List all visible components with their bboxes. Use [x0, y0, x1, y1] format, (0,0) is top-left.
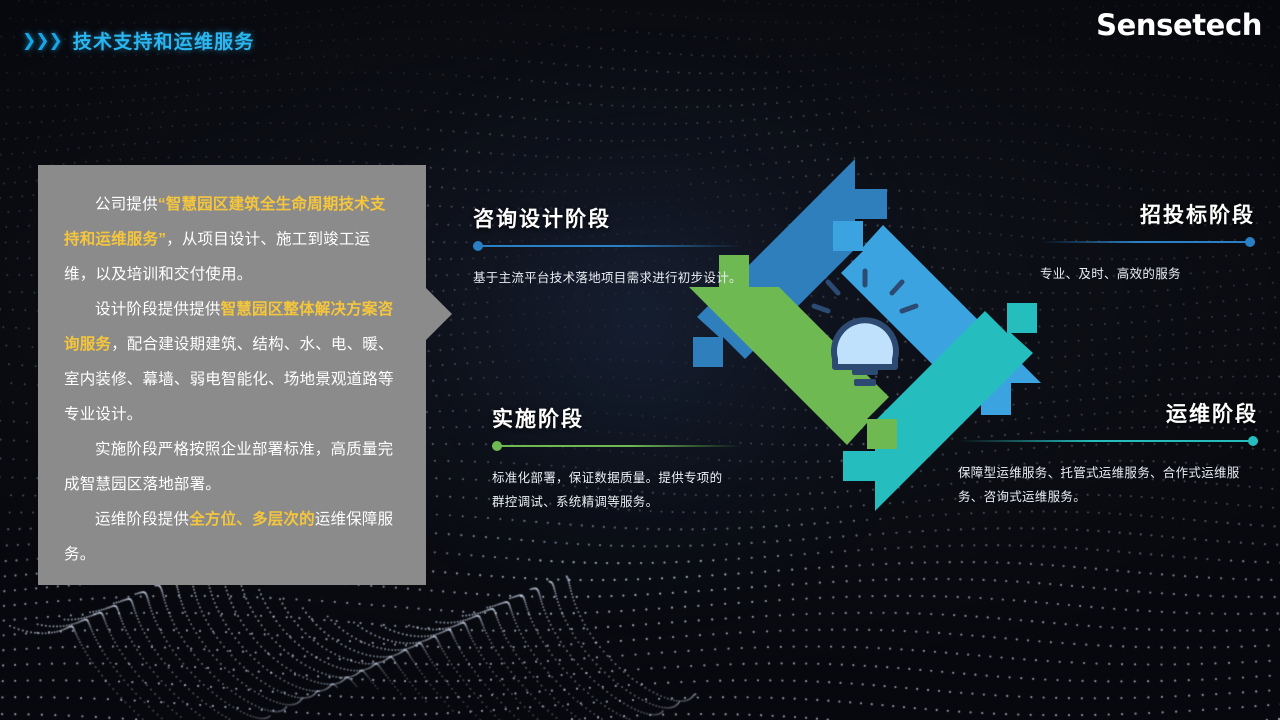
- rule-line: [473, 245, 743, 247]
- page-title-group: ❯❯❯ 技术支持和运维服务: [22, 27, 255, 54]
- panel-pointer-triangle: [426, 288, 452, 340]
- body-text: 设计阶段提供提供: [95, 301, 221, 318]
- rule-dot: [473, 241, 483, 251]
- triple-chevron-right-icon: ❯❯❯: [22, 32, 61, 49]
- lightbulb-glass: [834, 320, 896, 367]
- stage-ops-title: 运维阶段: [958, 398, 1258, 428]
- stage-ops-desc: 保障型运维服务、托管式运维服务、合作式运维服务、咨询式运维服务。: [958, 461, 1250, 509]
- body-text: ，配合建设期建筑、结构、水、电、暖、室内装修、幕墙、弱电智能化、场地景观道路等专…: [64, 336, 394, 423]
- info-paragraph-4: 运维阶段提供全方位、多层次的运维保障服务。: [64, 502, 400, 572]
- stage-bidding-rule: [1040, 236, 1255, 248]
- lightbulb-base-2: [854, 379, 876, 386]
- stage-bidding-title: 招投标阶段: [1040, 199, 1255, 229]
- info-paragraph-2: 设计阶段提供提供智慧园区整体解决方案咨询服务，配合建设期建筑、结构、水、电、暖、…: [64, 292, 400, 432]
- stage-consulting-rule: [473, 240, 743, 252]
- body-text: 实施阶段严格按照企业部署标准，高质量完成智慧园区落地部署。: [64, 441, 393, 493]
- rule-dot: [1248, 436, 1258, 446]
- rule-line: [492, 445, 742, 447]
- stage-consulting-desc: 基于主流平台技术落地项目需求进行初步设计。: [473, 266, 743, 290]
- info-paragraph-1: 公司提供“智慧园区建筑全生命周期技术支持和运维服务”，从项目设计、施工到竣工运维…: [64, 187, 400, 292]
- stage-implement[interactable]: 实施阶段 标准化部署，保证数据质量。提供专项的群控调试、系统精调等服务。: [492, 403, 742, 514]
- brand-logo: Sensetech: [1096, 8, 1262, 42]
- stage-implement-title: 实施阶段: [492, 403, 742, 433]
- highlight-text: 全方位、多层次的: [189, 511, 315, 528]
- stage-consulting-title: 咨询设计阶段: [473, 203, 743, 233]
- body-text: 运维阶段提供: [95, 511, 189, 528]
- stage-consulting[interactable]: 咨询设计阶段 基于主流平台技术落地项目需求进行初步设计。: [473, 203, 743, 290]
- page-title: 技术支持和运维服务: [73, 27, 255, 54]
- stage-bidding-desc: 专业、及时、高效的服务: [1040, 262, 1255, 286]
- body-text: 公司提供: [95, 196, 158, 213]
- info-panel-body: 公司提供“智慧园区建筑全生命周期技术支持和运维服务”，从项目设计、施工到竣工运维…: [64, 187, 400, 572]
- rule-dot: [1245, 237, 1255, 247]
- info-panel: 公司提供“智慧园区建筑全生命周期技术支持和运维服务”，从项目设计、施工到竣工运维…: [38, 165, 426, 585]
- rule-line: [1040, 241, 1255, 243]
- stage-implement-rule: [492, 440, 742, 452]
- info-paragraph-3: 实施阶段严格按照企业部署标准，高质量完成智慧园区落地部署。: [64, 432, 400, 502]
- rule-line: [958, 440, 1258, 442]
- rule-dot: [492, 441, 502, 451]
- page-header: ❯❯❯ 技术支持和运维服务 Sensetech: [0, 0, 1280, 62]
- stage-ops[interactable]: 运维阶段 保障型运维服务、托管式运维服务、合作式运维服务、咨询式运维服务。: [958, 398, 1258, 509]
- stage-bidding[interactable]: 招投标阶段 专业、及时、高效的服务: [1040, 199, 1255, 286]
- stage-ops-rule: [958, 435, 1258, 447]
- stage-implement-desc: 标准化部署，保证数据质量。提供专项的群控调试、系统精调等服务。: [492, 466, 734, 514]
- lightbulb-base-1: [852, 368, 878, 375]
